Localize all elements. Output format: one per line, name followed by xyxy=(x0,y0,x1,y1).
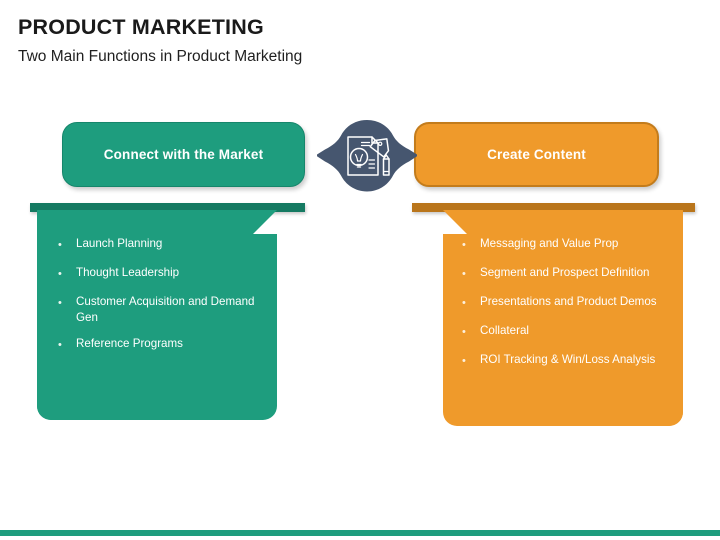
list-item-label: Customer Acquisition and Demand Gen xyxy=(76,294,263,325)
list-item: •Launch Planning xyxy=(58,236,263,254)
list-item-label: Messaging and Value Prop xyxy=(480,236,618,252)
panel-left-chamfer xyxy=(253,210,277,234)
function-button-label: Connect with the Market xyxy=(104,147,263,162)
function-button-create-content[interactable]: Create Content xyxy=(414,122,659,187)
list-item-label: Thought Leadership xyxy=(76,265,179,281)
list-create-content: •Messaging and Value Prop•Segment and Pr… xyxy=(462,236,667,381)
list-item-label: ROI Tracking & Win/Loss Analysis xyxy=(480,352,655,368)
list-item-label: Presentations and Product Demos xyxy=(480,294,657,310)
page-title: PRODUCT MARKETING xyxy=(18,14,678,40)
footer-accent-bar xyxy=(0,530,720,536)
bullet-icon: • xyxy=(462,265,480,283)
center-badge xyxy=(316,119,418,193)
bullet-icon: • xyxy=(462,323,480,341)
page-subtitle: Two Main Functions in Product Marketing xyxy=(18,46,678,68)
list-item: •Presentations and Product Demos xyxy=(462,294,667,312)
list-item: •Messaging and Value Prop xyxy=(462,236,667,254)
bullet-icon: • xyxy=(58,336,76,354)
bullet-icon: • xyxy=(462,236,480,254)
bullet-icon: • xyxy=(462,352,480,370)
list-item: •Collateral xyxy=(462,323,667,341)
list-item: •Thought Leadership xyxy=(58,265,263,283)
bullet-icon: • xyxy=(58,294,76,312)
header: PRODUCT MARKETING Two Main Functions in … xyxy=(18,14,678,68)
list-item: •Customer Acquisition and Demand Gen xyxy=(58,294,263,325)
bullet-icon: • xyxy=(58,265,76,283)
list-item-label: Launch Planning xyxy=(76,236,162,252)
list-item: •Segment and Prospect Definition xyxy=(462,265,667,283)
bullet-icon: • xyxy=(462,294,480,312)
list-item: •ROI Tracking & Win/Loss Analysis xyxy=(462,352,667,370)
slide-canvas: PRODUCT MARKETING Two Main Functions in … xyxy=(0,0,720,540)
list-item-label: Collateral xyxy=(480,323,529,339)
bullet-icon: • xyxy=(58,236,76,254)
panel-right-chamfer xyxy=(443,210,467,234)
list-item-label: Segment and Prospect Definition xyxy=(480,265,650,281)
list-connect-with-the-market: •Launch Planning•Thought Leadership•Cust… xyxy=(58,236,263,365)
function-button-connect-with-the-market[interactable]: Connect with the Market xyxy=(62,122,305,187)
list-item-label: Reference Programs xyxy=(76,336,183,352)
list-item: •Reference Programs xyxy=(58,336,263,354)
function-button-label: Create Content xyxy=(487,147,586,162)
